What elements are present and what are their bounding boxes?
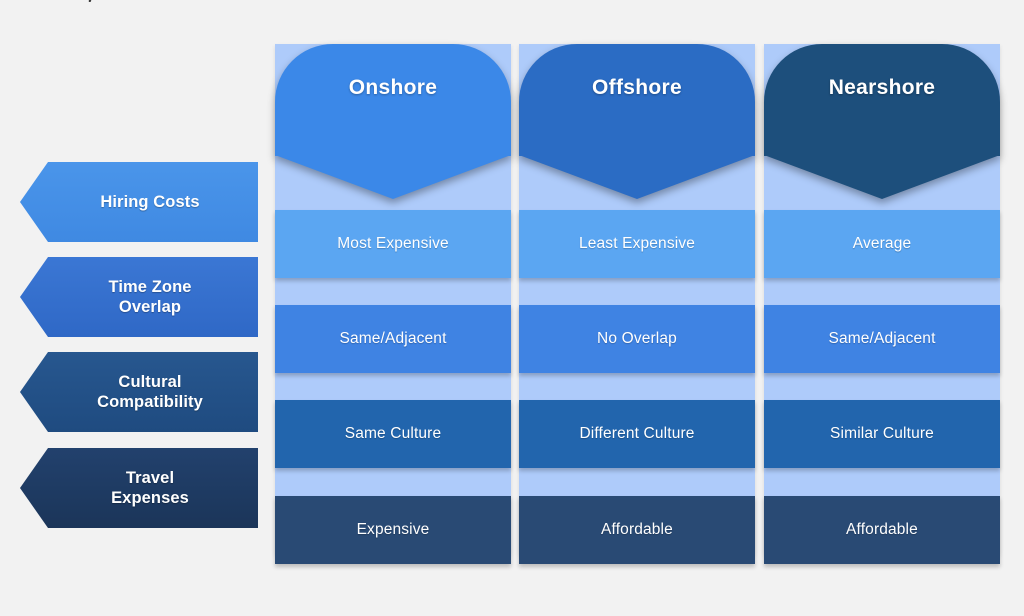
cell-value: Least Expensive <box>579 235 695 253</box>
cell-value: Same/Adjacent <box>828 330 935 348</box>
row-label-line: Cultural <box>97 372 203 392</box>
column-header-label: Nearshore <box>829 76 936 100</box>
column-header-label: Onshore <box>349 76 437 100</box>
cell-onshore-cultural-compatibility[interactable]: Same Culture <box>275 400 511 468</box>
cell-onshore-hiring-costs[interactable]: Most Expensive <box>275 210 511 278</box>
cell-nearshore-cultural-compatibility[interactable]: Similar Culture <box>764 400 1000 468</box>
row-label-line: Overlap <box>108 297 191 317</box>
cell-value: Affordable <box>601 521 673 539</box>
cell-onshore-travel-expenses[interactable]: Expensive <box>275 496 511 564</box>
column-header-onshore[interactable]: Onshore <box>275 44 511 156</box>
cell-value: Affordable <box>846 521 918 539</box>
column-onshore[interactable]: Onshore Most Expensive Same/Adjacent Sam… <box>275 44 511 559</box>
row-label-line: Time Zone <box>108 277 191 297</box>
column-nearshore[interactable]: Nearshore Average Same/Adjacent Similar … <box>764 44 1000 559</box>
cell-value: Same/Adjacent <box>339 330 446 348</box>
column-offshore[interactable]: Offshore Least Expensive No Overlap Diff… <box>519 44 755 559</box>
cell-nearshore-hiring-costs[interactable]: Average <box>764 210 1000 278</box>
row-label-group: Hiring Costs Time Zone Overlap Cultural … <box>20 0 260 616</box>
cell-value: Most Expensive <box>337 235 449 253</box>
cell-offshore-travel-expenses[interactable]: Affordable <box>519 496 755 564</box>
cell-value: Same Culture <box>345 425 442 443</box>
column-header-label: Offshore <box>592 76 682 100</box>
row-label-line: Expenses <box>111 488 189 508</box>
cell-nearshore-travel-expenses[interactable]: Affordable <box>764 496 1000 564</box>
row-label-hiring-costs[interactable]: Hiring Costs <box>20 162 258 242</box>
cell-onshore-time-zone-overlap[interactable]: Same/Adjacent <box>275 305 511 373</box>
cell-offshore-time-zone-overlap[interactable]: No Overlap <box>519 305 755 373</box>
column-header-nearshore[interactable]: Nearshore <box>764 44 1000 156</box>
comparison-matrix: Hiring Costs Time Zone Overlap Cultural … <box>0 0 1024 616</box>
cell-value: Average <box>853 235 912 253</box>
cell-value: Expensive <box>357 521 430 539</box>
column-header-offshore[interactable]: Offshore <box>519 44 755 156</box>
row-label-cultural-compatibility[interactable]: Cultural Compatibility <box>20 352 258 432</box>
cell-value: No Overlap <box>597 330 677 348</box>
row-label-line: Compatibility <box>97 392 203 412</box>
row-label-travel-expenses[interactable]: Travel Expenses <box>20 448 258 528</box>
cell-nearshore-time-zone-overlap[interactable]: Same/Adjacent <box>764 305 1000 373</box>
row-label-line: Travel <box>111 468 189 488</box>
cell-offshore-cultural-compatibility[interactable]: Different Culture <box>519 400 755 468</box>
row-label-line: Hiring Costs <box>42 192 258 212</box>
cell-offshore-hiring-costs[interactable]: Least Expensive <box>519 210 755 278</box>
cell-value: Different Culture <box>579 425 694 443</box>
cell-value: Similar Culture <box>830 425 934 443</box>
row-label-time-zone-overlap[interactable]: Time Zone Overlap <box>20 257 258 337</box>
